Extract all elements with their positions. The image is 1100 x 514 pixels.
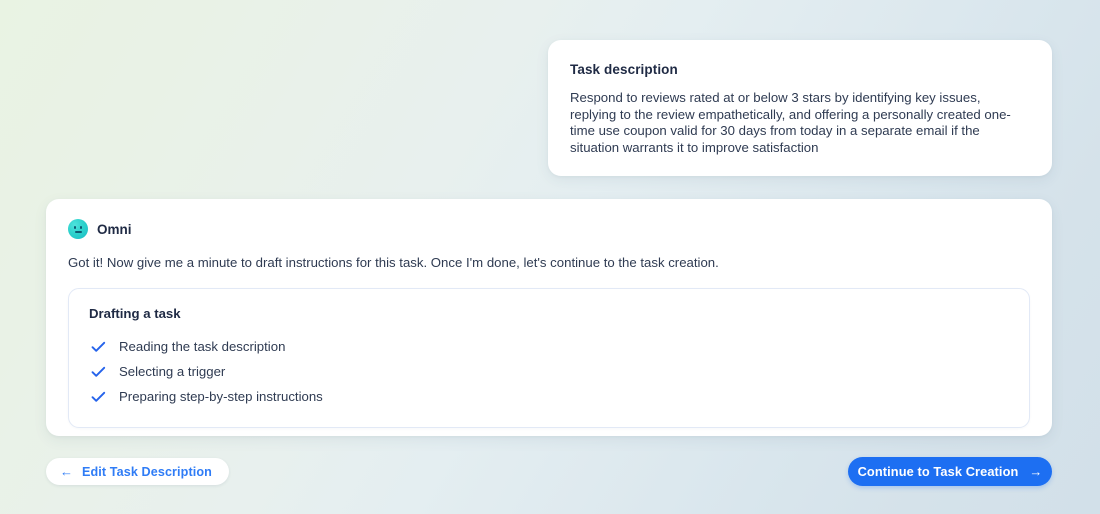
list-item-label: Preparing step-by-step instructions [119,388,323,405]
omni-face-icon [68,219,88,239]
list-item-label: Selecting a trigger [119,363,225,380]
continue-to-task-creation-button[interactable]: Continue to Task Creation → [848,457,1052,486]
omni-mouth [75,231,82,233]
list-item-label: Reading the task description [119,338,285,355]
task-description-text: Respond to reviews rated at or below 3 s… [570,90,1030,156]
edit-task-description-label: Edit Task Description [82,465,212,479]
omni-eye-left [74,226,76,229]
arrow-right-icon: → [1029,465,1042,478]
drafting-task-panel: Drafting a task Reading the task descrip… [68,288,1030,428]
list-item: Selecting a trigger [89,359,1009,384]
check-icon [89,341,119,353]
edit-task-description-button[interactable]: ← Edit Task Description [46,458,229,485]
list-item: Reading the task description [89,334,1009,359]
drafting-task-title: Drafting a task [89,306,1009,321]
arrow-left-icon: ← [60,465,73,478]
check-icon [89,391,119,403]
list-item: Preparing step-by-step instructions [89,384,1009,409]
task-description-title: Task description [570,62,1030,77]
omni-name-label: Omni [97,222,132,237]
omni-message-text: Got it! Now give me a minute to draft in… [68,254,1030,271]
app-background: Task description Respond to reviews rate… [0,0,1100,514]
omni-eye-right [80,226,82,229]
omni-header: Omni [68,218,1030,240]
continue-to-task-creation-label: Continue to Task Creation [858,464,1019,479]
task-description-card: Task description Respond to reviews rate… [548,40,1052,176]
omni-assistant-card: Omni Got it! Now give me a minute to dra… [46,199,1052,436]
check-icon [89,366,119,378]
